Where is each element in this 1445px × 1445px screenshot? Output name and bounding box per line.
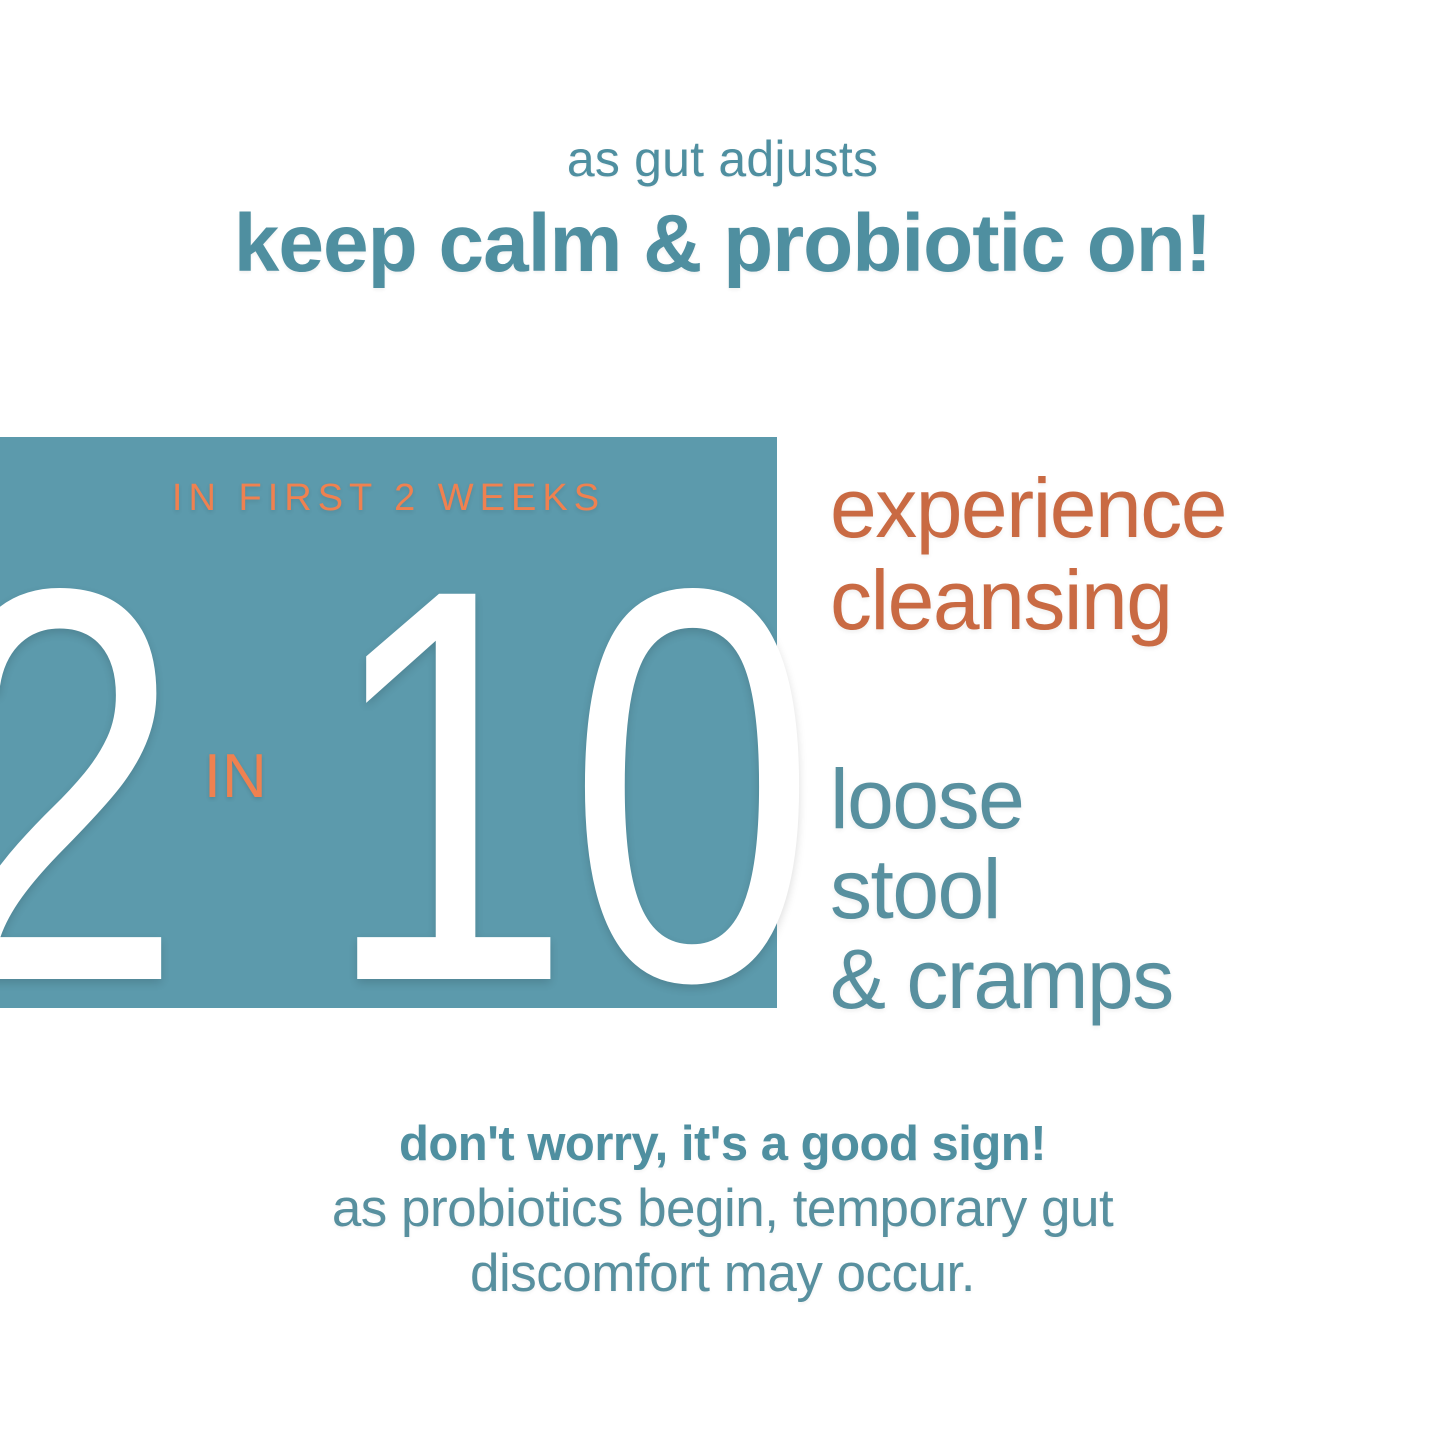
cleansing-block: experience cleansing: [830, 462, 1430, 646]
stat-ratio-figure: 2 IN 10: [0, 560, 777, 990]
stat-connector: IN: [204, 741, 268, 812]
cleansing-line-1: experience: [830, 462, 1430, 554]
discomfort-block: loose stool & cramps: [830, 754, 1430, 1024]
footer-note: don't worry, it's a good sign! as probio…: [0, 1112, 1445, 1306]
footer-line-2: discomfort may occur.: [0, 1241, 1445, 1306]
stat-numerator: 2: [0, 581, 179, 990]
cleansing-line-2: cleansing: [830, 554, 1430, 646]
discomfort-line-1: loose: [830, 754, 1430, 844]
discomfort-line-2: stool: [830, 844, 1430, 934]
header-eyebrow: as gut adjusts: [0, 128, 1445, 190]
footer-line-1: as probiotics begin, temporary gut: [0, 1176, 1445, 1241]
stat-denominator: 10: [323, 581, 812, 990]
footer-headline: don't worry, it's a good sign!: [0, 1112, 1445, 1176]
header-block: as gut adjusts keep calm & probiotic on!: [0, 128, 1445, 292]
infographic-poster: as gut adjusts keep calm & probiotic on!…: [0, 0, 1445, 1445]
symptom-column: experience cleansing loose stool & cramp…: [830, 462, 1430, 1024]
page-title: keep calm & probiotic on!: [0, 196, 1445, 292]
discomfort-line-3: & cramps: [830, 934, 1430, 1024]
